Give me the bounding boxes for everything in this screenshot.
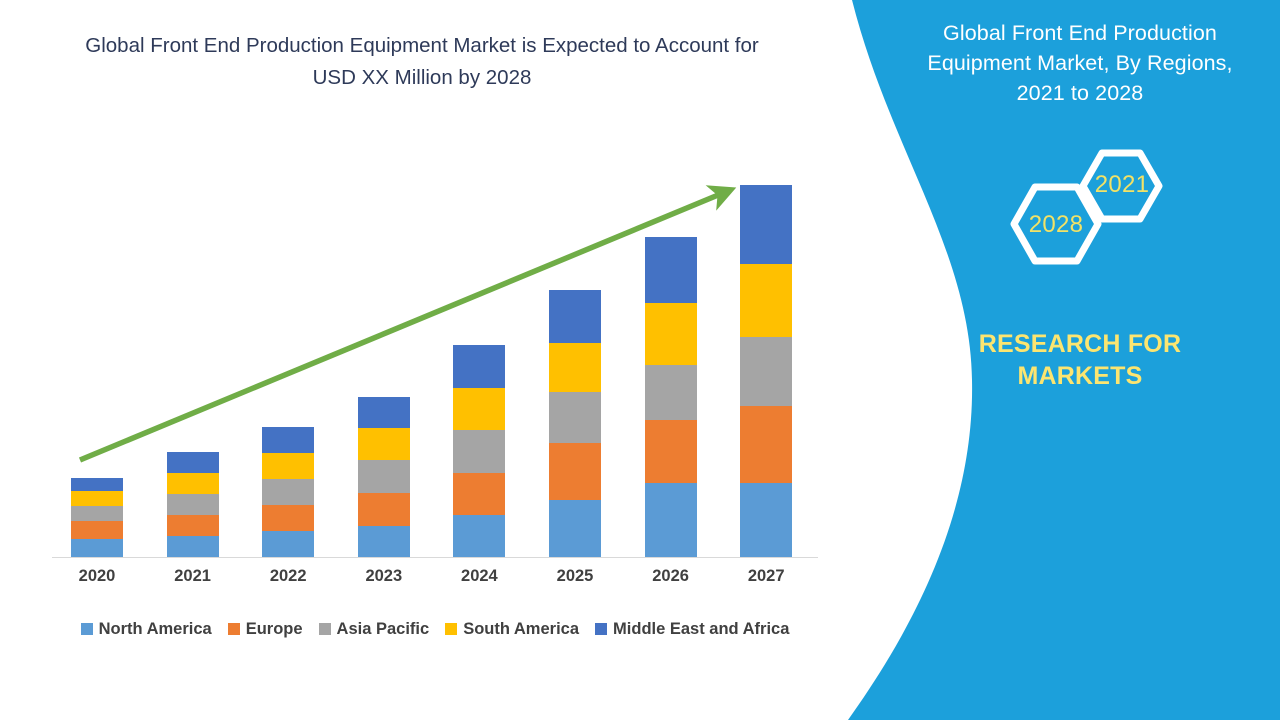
legend-label: Europe: [246, 620, 303, 639]
right-panel-content: Global Front End Production Equipment Ma…: [900, 0, 1260, 720]
legend-item-middle-east-and-africa[interactable]: Middle East and Africa: [595, 620, 789, 639]
legend-label: Asia Pacific: [337, 620, 430, 639]
x-axis-label-2024: 2024: [431, 567, 527, 586]
panel-title: Global Front End Production Equipment Ma…: [910, 18, 1250, 108]
infographic-slide: Global Front End Production Equipment Ma…: [0, 0, 1280, 720]
x-axis-line: [52, 557, 818, 558]
x-axis-label-2025: 2025: [527, 567, 623, 586]
legend-item-south-america[interactable]: South America: [445, 620, 579, 639]
hexagon-group: 2028 2021: [980, 140, 1220, 290]
legend-item-asia-pacific[interactable]: Asia Pacific: [319, 620, 430, 639]
x-axis-label-2023: 2023: [336, 567, 432, 586]
legend-item-europe[interactable]: Europe: [228, 620, 303, 639]
hexagon-2028-label: 2028: [1006, 211, 1106, 239]
chart-legend: North AmericaEuropeAsia PacificSouth Ame…: [40, 617, 830, 641]
legend-swatch-icon: [228, 623, 240, 635]
x-axis-label-2021: 2021: [145, 567, 241, 586]
legend-swatch-icon: [595, 623, 607, 635]
legend-label: North America: [99, 620, 212, 639]
brand-text: RESEARCH FOR MARKETS: [920, 328, 1240, 392]
legend-label: Middle East and Africa: [613, 620, 789, 639]
x-axis-labels: 20202021202220232024202520262027: [0, 567, 838, 595]
legend-swatch-icon: [319, 623, 331, 635]
legend-item-north-america[interactable]: North America: [81, 620, 212, 639]
x-axis-label-2027: 2027: [718, 567, 814, 586]
x-axis-label-2026: 2026: [623, 567, 719, 586]
legend-swatch-icon: [81, 623, 93, 635]
legend-label: South America: [463, 620, 579, 639]
x-axis-label-2020: 2020: [49, 567, 145, 586]
x-axis-label-2022: 2022: [240, 567, 336, 586]
legend-swatch-icon: [445, 623, 457, 635]
growth-trend-arrow: [0, 0, 838, 720]
hexagon-2021-label: 2021: [1076, 171, 1168, 199]
